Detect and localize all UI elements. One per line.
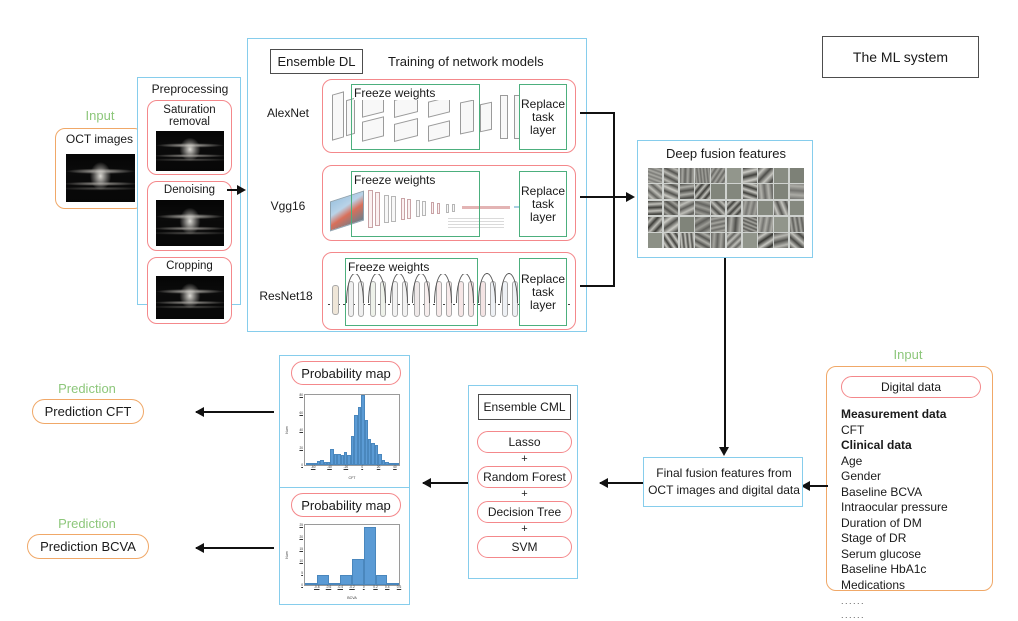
histogram-xtick: 0.4: [385, 585, 389, 589]
histogram-ytick: 0: [301, 463, 303, 467]
prediction-caption-cft: Prediction: [22, 381, 152, 396]
bus-line-vertical: [613, 112, 615, 287]
ensemble-dl-badge: Ensemble DL: [270, 49, 363, 74]
feature-tile: [664, 201, 678, 216]
feature-tile: [743, 184, 757, 199]
digital-data-item: Baseline BCVA: [841, 485, 991, 501]
feature-tile: [774, 201, 788, 216]
feature-tile: [695, 168, 709, 183]
model-name-vgg16: Vgg16: [256, 199, 320, 213]
feature-tile: [664, 217, 678, 232]
digital-data-item: Baseline HbA1c: [841, 562, 991, 578]
histogram-bar: [376, 575, 388, 585]
arrow-cml-to-probability-maps-head: [422, 478, 431, 488]
line-prob-cft-to-prediction: [196, 411, 274, 413]
ensemble-dl-panel: Ensemble DL Training of network models A…: [247, 38, 587, 332]
feature-tile: [758, 168, 772, 183]
model-card-alexnet: Freeze weights Replace task layer: [322, 79, 576, 153]
feature-tile: [648, 201, 662, 216]
preprocessing-panel: Preprocessing Saturation removal Denoisi…: [137, 77, 241, 305]
histogram-ytick: 40: [299, 428, 303, 432]
arrow-to-deep-fusion-head: [626, 192, 635, 202]
deep-fusion-features-title: Deep fusion features: [638, 146, 814, 161]
feature-tile: [695, 201, 709, 216]
histogram-xlabel-cft: CFT: [305, 476, 399, 480]
oct-bscan-icon: [156, 200, 224, 246]
feature-tile: [727, 233, 741, 248]
ensemble-cml-badge: Ensemble CML: [478, 394, 571, 420]
histogram-xtick: 0: [363, 585, 365, 589]
feature-tile: [664, 168, 678, 183]
digital-data-panel: Digital data Measurement dataCFTClinical…: [826, 366, 993, 591]
feature-tile: [711, 201, 725, 216]
digital-data-item: Serum glucose: [841, 547, 991, 563]
line-deep-fusion-to-final-fusion: [724, 258, 726, 450]
input-oct-caption: Input: [70, 108, 130, 123]
preprocessing-step-cropping: Cropping: [147, 257, 232, 324]
model-card-vgg16: Freeze weights Replace task layer: [322, 165, 576, 241]
arrow-deep-fusion-to-final-fusion-head: [719, 447, 729, 456]
feature-tile: [790, 217, 804, 232]
digital-data-group-header: Measurement data: [841, 407, 991, 423]
final-fusion-features-box: Final fusion features from OCT images an…: [643, 457, 803, 507]
digital-data-item: Medications: [841, 578, 991, 594]
feature-tile: [680, 184, 694, 199]
digital-data-ellipsis: ......: [841, 610, 991, 621]
feature-tile: [758, 184, 772, 199]
feature-tile: [743, 233, 757, 248]
histogram-xtick: 0: [361, 465, 363, 469]
feature-tile: [648, 184, 662, 199]
digital-data-item: CFT: [841, 423, 991, 439]
feature-tile: [743, 168, 757, 183]
ml-system-title-box: The ML system: [822, 36, 979, 78]
feature-tile: [680, 201, 694, 216]
prediction-cft-box: Prediction CFT: [32, 399, 144, 424]
deep-fusion-features-panel: Deep fusion features: [637, 140, 813, 258]
arrow-prob-bcva-to-prediction-head: [195, 543, 204, 553]
line-prob-bcva-to-prediction: [196, 547, 274, 549]
cml-model-random-forest: Random Forest: [477, 466, 572, 488]
feature-tile: [790, 184, 804, 199]
probability-map-panel-bcva: Probability map 0510152025 -0.8-0.6-0.4-…: [279, 487, 410, 605]
feature-tile: [711, 233, 725, 248]
histogram-ylabel-bcva: Num: [285, 551, 289, 559]
feature-tile: [727, 168, 741, 183]
arrow-prob-cft-to-prediction-head: [195, 407, 204, 417]
freeze-weights-region-vgg16: Freeze weights: [351, 171, 480, 237]
prediction-caption-bcva: Prediction: [22, 516, 152, 531]
oct-bscan-icon: [66, 154, 135, 202]
digital-data-item: Gender: [841, 469, 991, 485]
digital-data-item: Duration of DM: [841, 516, 991, 532]
histogram-xtick: 20: [377, 465, 381, 469]
feature-tile: [774, 217, 788, 232]
feature-tile: [743, 217, 757, 232]
feature-tile: [774, 233, 788, 248]
histogram-xlabel-bcva: BCVA: [305, 596, 399, 600]
digital-data-list: Measurement dataCFTClinical dataAgeGende…: [841, 407, 991, 621]
histogram-bar: [352, 559, 364, 585]
replace-task-layer-region-alexnet: Replace task layer: [519, 84, 567, 150]
digital-data-pill: Digital data: [841, 376, 981, 398]
histogram-xtick: -60: [311, 465, 316, 469]
digital-data-item: Age: [841, 454, 991, 470]
histogram-xtick: 40: [393, 465, 397, 469]
bus-line-vgg16: [580, 196, 615, 198]
feature-tile: [790, 201, 804, 216]
preprocessing-step-label: Saturation removal: [148, 101, 231, 128]
cml-model-svm: SVM: [477, 536, 572, 558]
preprocessing-title: Preprocessing: [138, 82, 242, 96]
replace-task-layer-label: Replace task layer: [520, 98, 566, 137]
histogram-xtick: 0.2: [373, 585, 377, 589]
feature-tile: [680, 233, 694, 248]
feature-tile: [711, 184, 725, 199]
input-oct-box: OCT images: [55, 128, 144, 209]
histogram-ytick: 20: [299, 535, 303, 539]
preprocessing-step-saturation-removal: Saturation removal: [147, 100, 232, 175]
feature-tile: [727, 217, 741, 232]
histogram-xtick: -40: [327, 465, 332, 469]
histogram-xtick: 0.6: [397, 585, 401, 589]
probability-histogram-bcva: 0510152025 -0.8-0.6-0.4-0.200.20.40.6 BC…: [304, 524, 400, 586]
replace-task-layer-region-resnet18: Replace task layer: [519, 258, 567, 326]
histogram-ytick: 0: [301, 583, 303, 587]
feature-tile: [758, 233, 772, 248]
histogram-ylabel-cft: Num: [285, 426, 289, 434]
preprocessing-step-denoising: Denoising: [147, 181, 232, 251]
bus-line-resnet18: [580, 285, 615, 287]
bus-line-alexnet: [580, 112, 615, 114]
feature-tile: [774, 184, 788, 199]
feature-tile: [680, 168, 694, 183]
histogram-bar: [317, 575, 329, 585]
feature-tile: [664, 184, 678, 199]
freeze-weights-label: Freeze weights: [348, 260, 477, 274]
digital-data-item: Intraocular pressure: [841, 500, 991, 516]
feature-tile: [711, 168, 725, 183]
arrow-final-fusion-to-cml-head: [599, 478, 608, 488]
histogram-xtick: -0.2: [349, 585, 355, 589]
histogram-ytick: 15: [299, 547, 303, 551]
replace-task-layer-region-vgg16: Replace task layer: [519, 171, 567, 237]
histogram-ytick: 60: [299, 411, 303, 415]
ensemble-cml-panel: Ensemble CML Lasso + Random Forest + Dec…: [468, 385, 578, 579]
freeze-weights-region-resnet18: Freeze weights: [345, 258, 478, 326]
feature-tile: [648, 168, 662, 183]
freeze-weights-label: Freeze weights: [354, 86, 479, 100]
feature-tile: [790, 233, 804, 248]
replace-task-layer-label: Replace task layer: [520, 273, 566, 312]
histogram-xtick: -20: [344, 465, 349, 469]
model-name-alexnet: AlexNet: [256, 106, 320, 120]
feature-tile: [648, 217, 662, 232]
histogram-ytick: 10: [299, 559, 303, 563]
histogram-xtick: -0.6: [326, 585, 332, 589]
digital-data-item: Stage of DR: [841, 531, 991, 547]
feature-tile: [727, 184, 741, 199]
feature-tile: [727, 201, 741, 216]
cml-plus-3: +: [477, 523, 572, 535]
histogram-bar: [340, 575, 352, 585]
replace-task-layer-label: Replace task layer: [520, 185, 566, 224]
cml-plus-2: +: [477, 488, 572, 500]
feature-tile: [743, 201, 757, 216]
feature-tile: [664, 233, 678, 248]
digital-data-ellipsis: ......: [841, 596, 991, 607]
cml-plus-1: +: [477, 453, 572, 465]
feature-tile: [774, 168, 788, 183]
preprocessing-step-label: Denoising: [148, 182, 231, 196]
probability-histogram-cft: 020406080 -60-40-2002040 CFT Num: [304, 394, 400, 466]
feature-tile: [695, 184, 709, 199]
model-name-resnet18: ResNet18: [250, 289, 322, 303]
feature-tile: [695, 233, 709, 248]
input-oct-label: OCT images: [56, 129, 143, 149]
cml-model-lasso: Lasso: [477, 431, 572, 453]
histogram-ytick: 5: [301, 571, 303, 575]
probability-map-label-bcva: Probability map: [291, 493, 401, 517]
feature-tile: [680, 217, 694, 232]
histogram-xtick: -0.8: [314, 585, 320, 589]
final-fusion-line2: OCT images and digital data: [644, 483, 804, 497]
ml-system-title-label: The ML system: [853, 49, 948, 65]
digital-input-caption: Input: [853, 347, 963, 362]
freeze-weights-region-alexnet: Freeze weights: [351, 84, 480, 150]
histogram-ytick: 25: [299, 523, 303, 527]
preprocessing-step-label: Cropping: [148, 258, 231, 272]
oct-bscan-icon: [156, 131, 224, 171]
freeze-weights-label: Freeze weights: [354, 173, 479, 187]
feature-tile: [648, 233, 662, 248]
probability-map-panel-cft: Probability map 020406080 -60-40-2002040…: [279, 355, 410, 488]
feature-tile: [711, 217, 725, 232]
final-fusion-line1: Final fusion features from: [644, 466, 804, 480]
arrow-preprocessing-to-dl-head: [237, 185, 246, 195]
histogram-ytick: 80: [299, 393, 303, 397]
oct-bscan-icon: [156, 276, 224, 319]
histogram-bar: [364, 527, 376, 585]
model-card-resnet18: Freeze weights Replace task layer: [322, 252, 576, 330]
histogram-ytick: 20: [299, 446, 303, 450]
digital-data-group-header: Clinical data: [841, 438, 991, 454]
cml-model-decision-tree: Decision Tree: [477, 501, 572, 523]
histogram-xtick: -0.4: [338, 585, 344, 589]
gabor-filter-grid-icon: [648, 168, 804, 248]
probability-map-label-cft: Probability map: [291, 361, 401, 385]
feature-tile: [758, 201, 772, 216]
feature-tile: [790, 168, 804, 183]
feature-tile: [695, 217, 709, 232]
prediction-bcva-box: Prediction BCVA: [27, 534, 149, 559]
ensemble-dl-heading: Training of network models: [388, 54, 544, 69]
feature-tile: [758, 217, 772, 232]
